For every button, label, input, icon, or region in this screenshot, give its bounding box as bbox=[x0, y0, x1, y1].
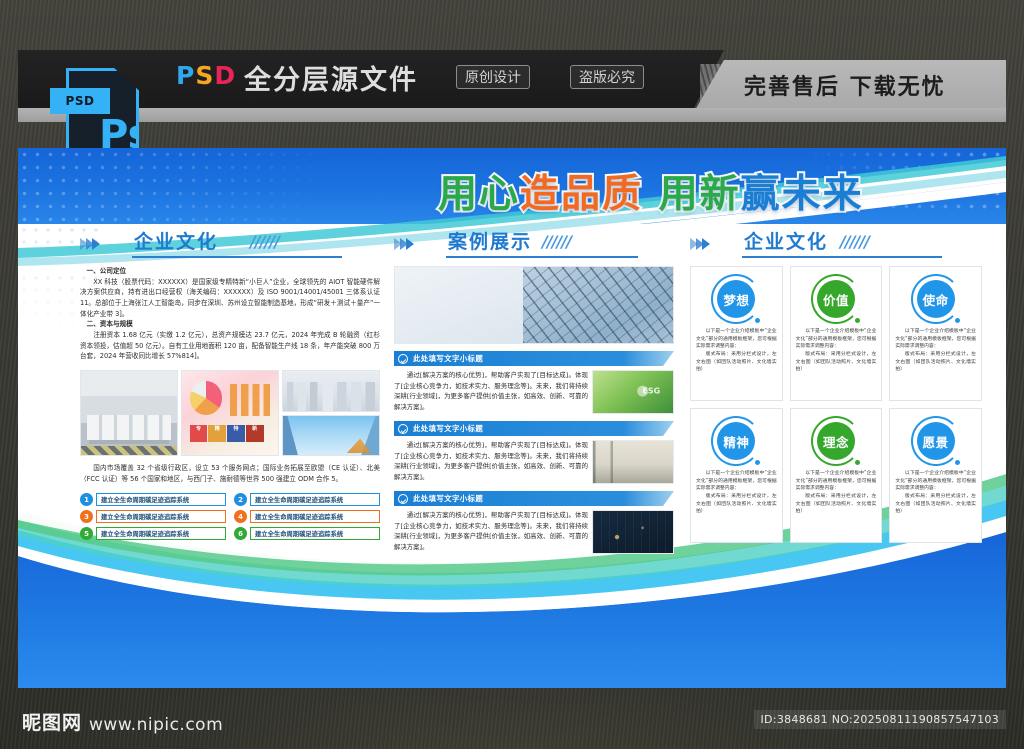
kpi-item[interactable]: 1建立全生命周期碳足迹追踪系统 bbox=[80, 493, 226, 506]
case-subtitle-bar[interactable]: 此处填写文字小标题 bbox=[394, 491, 674, 506]
kpi-label: 建立全生命周期碳足迹追踪系统 bbox=[250, 527, 380, 540]
section-heading-left: 企业文化 ////// bbox=[80, 228, 380, 258]
check-circle-icon bbox=[398, 494, 408, 504]
slash-decoration-right: ////// bbox=[840, 232, 869, 251]
file-type-label: PSD bbox=[50, 88, 110, 114]
case-subtitle-bar[interactable]: 此处填写文字小标题 bbox=[394, 421, 674, 436]
banner-tag-anti-piracy: 盗版必究 bbox=[570, 65, 644, 89]
section-heading-right: 企业文化 ////// bbox=[690, 228, 982, 258]
culture-card-paragraph-1: 以下是一个企业介绍模板中“企业文化”部分的通用模板框架，您可根据实际需求调整内容… bbox=[796, 328, 877, 351]
column-company-culture-right: 企业文化 ////// 梦想以下是一个企业介绍模板中“企业文化”部分的通用模板框… bbox=[690, 228, 982, 543]
site-logo-text: 昵图网 bbox=[22, 708, 82, 735]
case-paragraph: 通过[解决方案的核心优势]，帮助客户实现了[目标达成]。体现了[企业核心竞争力，… bbox=[394, 510, 592, 554]
culture-card-paragraph-1: 以下是一个企业介绍模板中“企业文化”部分的通用模板框架，您可根据实际需求调整内容… bbox=[696, 328, 777, 351]
case-block-body: 通过[解决方案的核心优势]，帮助客户实现了[目标达成]。体现了[企业核心竞争力，… bbox=[394, 510, 674, 554]
psd-letter-d: D bbox=[214, 61, 236, 90]
ring-end-dot-icon bbox=[855, 460, 860, 465]
culture-card[interactable]: 精神以下是一个企业介绍模板中“企业文化”部分的通用模板框架，您可根据实际需求调整… bbox=[690, 408, 783, 543]
culture-card-paragraph-2: 版式布局：采用分栏式设计，左文右图（如团队活动照片、文化墙实拍） bbox=[895, 351, 976, 374]
banner-service-slogan: 完善售后 下载无忧 bbox=[744, 69, 946, 101]
case-subtitle-label: 此处填写文字小标题 bbox=[413, 353, 483, 364]
kpi-number-badge: 5 bbox=[80, 527, 93, 540]
poster-canvas: 用心造品质 用新赢未来 企业文化 ////// 一、公司定位 XX 科技（股票代… bbox=[18, 148, 1006, 688]
ring-end-dot-icon bbox=[755, 318, 760, 323]
culture-card-text: 以下是一个企业介绍模板中“企业文化”部分的通用模板框架，您可根据实际需求调整内容… bbox=[696, 470, 777, 516]
culture-card-paragraph-2: 版式布局：采用分栏式设计，左文右图（如团队活动照片、文化墙实拍） bbox=[796, 351, 877, 374]
left-subheading-2: 二、资本与规模 bbox=[80, 319, 380, 330]
psd-letter-p: P bbox=[176, 61, 195, 90]
case-block: 此处填写文字小标题通过[解决方案的核心优势]，帮助客户实现了[目标达成]。体现了… bbox=[394, 421, 674, 484]
headline-part-4: 赢未来 bbox=[741, 172, 864, 217]
triple-arrow-icon bbox=[80, 235, 98, 254]
kpi-label: 建立全生命周期碳足迹追踪系统 bbox=[250, 510, 380, 523]
culture-card-paragraph-2: 版式布局：采用分栏式设计，左文右图（如团队活动照片、文化墙实拍） bbox=[895, 493, 976, 516]
photo-stack-right bbox=[282, 370, 380, 456]
left-paragraph-1: XX 科技（股票代码：XXXXXX）是国家级专精特新“小巨人”企业，全球领先的 … bbox=[80, 277, 380, 320]
section-title-right: 企业文化 bbox=[744, 227, 828, 254]
kpi-number-badge: 6 bbox=[234, 527, 247, 540]
psd-wordmark: PSD bbox=[176, 61, 236, 90]
site-watermark: 昵图网 www.nipic.com bbox=[22, 708, 223, 735]
culture-card-grid: 梦想以下是一个企业介绍模板中“企业文化”部分的通用模板框架，您可根据实际需求调整… bbox=[690, 266, 982, 543]
culture-card-label: 理念 bbox=[817, 422, 855, 460]
check-circle-icon bbox=[398, 424, 408, 434]
culture-card-label: 愿景 bbox=[917, 422, 955, 460]
culture-card-text: 以下是一个企业介绍模板中“企业文化”部分的通用模板框架，您可根据实际需求调整内容… bbox=[895, 470, 976, 516]
culture-card-text: 以下是一个企业介绍模板中“企业文化”部分的通用模板框架，您可根据实际需求调整内容… bbox=[796, 470, 877, 516]
case-paragraph: 通过[解决方案的核心优势]，帮助客户实现了[目标达成]。体现了[企业核心竞争力，… bbox=[394, 440, 592, 484]
culture-ring-icon: 精神 bbox=[711, 416, 761, 466]
culture-card-paragraph-2: 版式布局：采用分栏式设计，左文右图（如团队活动照片、文化墙实拍） bbox=[696, 493, 777, 516]
thumbnail-esg-globe bbox=[592, 370, 674, 414]
headline-part-2: 造品质 bbox=[520, 172, 643, 217]
culture-card-label: 使命 bbox=[917, 280, 955, 318]
culture-ring-icon: 梦想 bbox=[711, 274, 761, 324]
psd-letter-s: S bbox=[195, 61, 214, 90]
culture-ring-icon: 价值 bbox=[811, 274, 861, 324]
headline-part-3: 用新 bbox=[659, 172, 741, 217]
case-block-body: 通过[解决方案的核心优势]，帮助客户实现了[目标达成]。体现了[企业核心竞争力，… bbox=[394, 370, 674, 414]
ring-end-dot-icon bbox=[855, 318, 860, 323]
kpi-label: 建立全生命周期碳足迹追踪系统 bbox=[250, 493, 380, 506]
kpi-item[interactable]: 5建立全生命周期碳足迹追踪系统 bbox=[80, 527, 226, 540]
slash-decoration-left: ////// bbox=[250, 232, 279, 251]
kpi-label: 建立全生命周期碳足迹追踪系统 bbox=[96, 493, 226, 506]
culture-card-paragraph-1: 以下是一个企业介绍模板中“企业文化”部分的通用模板框架，您可根据实际需求调整内容… bbox=[895, 328, 976, 351]
kpi-label: 建立全生命周期碳足迹追踪系统 bbox=[96, 527, 226, 540]
culture-card-text: 以下是一个企业介绍模板中“企业文化”部分的通用模板框架，您可根据实际需求调整内容… bbox=[696, 328, 777, 374]
kpi-item[interactable]: 2建立全生命周期碳足迹追踪系统 bbox=[234, 493, 380, 506]
section-title-left: 企业文化 bbox=[134, 227, 218, 254]
culture-card-paragraph-2: 版式布局：采用分栏式设计，左文右图（如团队活动照片、文化墙实拍） bbox=[796, 493, 877, 516]
block-label-3: 新 bbox=[246, 425, 264, 442]
heading-underline-mid bbox=[446, 256, 638, 258]
case-block-body: 通过[解决方案的核心优势]，帮助客户实现了[目标达成]。体现了[企业核心竞争力，… bbox=[394, 440, 674, 484]
culture-card-paragraph-2: 版式布局：采用分栏式设计，左文右图（如团队活动照片、文化墙实拍） bbox=[696, 351, 777, 374]
photo-office-interior bbox=[80, 370, 178, 456]
hero-image-glass-facade bbox=[394, 266, 674, 344]
check-circle-icon bbox=[398, 354, 408, 364]
banner-title: 全分层源文件 bbox=[244, 58, 418, 97]
triple-arrow-icon bbox=[394, 235, 412, 254]
left-body-text-2: 国内市场覆盖 32 个省级行政区，设立 53 个服务网点；国际业务拓展至欧盟（C… bbox=[80, 463, 380, 484]
case-block: 此处填写文字小标题通过[解决方案的核心优势]，帮助客户实现了[目标达成]。体现了… bbox=[394, 351, 674, 414]
hero-image-left-pane bbox=[395, 267, 523, 343]
dot-pattern-left-icon bbox=[18, 148, 348, 224]
collage-word-blocks: 专 精 特 新 bbox=[190, 425, 265, 442]
culture-card-label: 精神 bbox=[717, 422, 755, 460]
culture-card-label: 梦想 bbox=[717, 280, 755, 318]
kpi-label: 建立全生命周期碳足迹追踪系统 bbox=[96, 510, 226, 523]
culture-card[interactable]: 理念以下是一个企业介绍模板中“企业文化”部分的通用模板框架，您可根据实际需求调整… bbox=[790, 408, 883, 543]
photo-towers-upward bbox=[282, 415, 380, 457]
culture-card-text: 以下是一个企业介绍模板中“企业文化”部分的通用模板框架，您可根据实际需求调整内容… bbox=[895, 328, 976, 374]
photo-charts-report: 专 精 特 新 bbox=[181, 370, 279, 456]
hero-image-right-pane bbox=[523, 267, 673, 343]
culture-card[interactable]: 价值以下是一个企业介绍模板中“企业文化”部分的通用模板框架，您可根据实际需求调整… bbox=[790, 266, 883, 401]
culture-ring-icon: 使命 bbox=[911, 274, 961, 324]
thumbnail-indoor-plants bbox=[592, 440, 674, 484]
case-subtitle-label: 此处填写文字小标题 bbox=[413, 423, 483, 434]
case-subtitle-label: 此处填写文字小标题 bbox=[413, 493, 483, 504]
culture-card[interactable]: 使命以下是一个企业介绍模板中“企业文化”部分的通用模板框架，您可根据实际需求调整… bbox=[889, 266, 982, 401]
poster-headline: 用心造品质 用新赢未来 bbox=[438, 166, 998, 224]
block-label-2: 特 bbox=[227, 425, 245, 442]
left-paragraph-3: 国内市场覆盖 32 个省级行政区，设立 53 个服务网点；国际业务拓展至欧盟（C… bbox=[80, 463, 380, 484]
column-company-culture-left: 企业文化 ////// 一、公司定位 XX 科技（股票代码：XXXXXX）是国家… bbox=[80, 228, 380, 540]
site-url: www.nipic.com bbox=[89, 715, 223, 735]
case-subtitle-bar[interactable]: 此处填写文字小标题 bbox=[394, 351, 674, 366]
psd-promo-banner: PSD 全分层源文件 原创设计 盗版必究 完善售后 下载无忧 Ps PSD bbox=[0, 50, 1024, 112]
culture-card-text: 以下是一个企业介绍模板中“企业文化”部分的通用模板框架，您可根据实际需求调整内容… bbox=[796, 328, 877, 374]
culture-card[interactable]: 愿景以下是一个企业介绍模板中“企业文化”部分的通用模板框架，您可根据实际需求调整… bbox=[889, 408, 982, 543]
left-paragraph-2: 注册资本 1.68 亿元（实缴 1.2 亿元），总资产规模达 23.7 亿元，2… bbox=[80, 330, 380, 362]
kpi-number-badge: 1 bbox=[80, 493, 93, 506]
banner-tag-original-design: 原创设计 bbox=[456, 65, 530, 89]
banner-bottom-strip bbox=[18, 108, 1006, 122]
photo-collage: 专 精 特 新 bbox=[80, 370, 380, 456]
kpi-list: 1建立全生命周期碳足迹追踪系统2建立全生命周期碳足迹追踪系统3建立全生命周期碳足… bbox=[80, 493, 380, 540]
asset-id-badge: ID:3848681 NO:20250811190857547103 bbox=[754, 710, 1006, 729]
photo-city-skyline bbox=[282, 370, 380, 412]
culture-card[interactable]: 梦想以下是一个企业介绍模板中“企业文化”部分的通用模板框架，您可根据实际需求调整… bbox=[690, 266, 783, 401]
column-case-showcase: 案例展示 ////// 此处填写文字小标题通过[解决方案的核心优势]，帮助客户实… bbox=[394, 228, 674, 554]
ring-end-dot-icon bbox=[755, 460, 760, 465]
culture-card-label: 价值 bbox=[817, 280, 855, 318]
culture-card-paragraph-1: 以下是一个企业介绍模板中“企业文化”部分的通用模板框架，您可根据实际需求调整内容… bbox=[895, 470, 976, 493]
kpi-item[interactable]: 3建立全生命周期碳足迹追踪系统 bbox=[80, 510, 226, 523]
block-label-0: 专 bbox=[190, 425, 208, 442]
culture-card-paragraph-1: 以下是一个企业介绍模板中“企业文化”部分的通用模板框架，您可根据实际需求调整内容… bbox=[796, 470, 877, 493]
case-blocks: 此处填写文字小标题通过[解决方案的核心优势]，帮助客户实现了[目标达成]。体现了… bbox=[394, 351, 674, 554]
left-subheading-1: 一、公司定位 bbox=[80, 266, 380, 277]
section-heading-mid: 案例展示 ////// bbox=[394, 228, 674, 258]
ring-end-dot-icon bbox=[955, 460, 960, 465]
left-body-text: 一、公司定位 XX 科技（股票代码：XXXXXX）是国家级专精特新“小巨人”企业… bbox=[80, 266, 380, 362]
thumbnail-night-building bbox=[592, 510, 674, 554]
kpi-item[interactable]: 4建立全生命周期碳足迹追踪系统 bbox=[234, 510, 380, 523]
culture-card-paragraph-1: 以下是一个企业介绍模板中“企业文化”部分的通用模板框架，您可根据实际需求调整内容… bbox=[696, 470, 777, 493]
triple-arrow-icon bbox=[690, 235, 708, 254]
headline-part-1: 用心 bbox=[438, 172, 520, 217]
ring-end-dot-icon bbox=[955, 318, 960, 323]
case-paragraph: 通过[解决方案的核心优势]，帮助客户实现了[目标达成]。体现了[企业核心竞争力，… bbox=[394, 370, 592, 414]
kpi-number-badge: 4 bbox=[234, 510, 247, 523]
kpi-number-badge: 2 bbox=[234, 493, 247, 506]
case-block: 此处填写文字小标题通过[解决方案的核心优势]，帮助客户实现了[目标达成]。体现了… bbox=[394, 491, 674, 554]
culture-ring-icon: 理念 bbox=[811, 416, 861, 466]
heading-underline-left bbox=[132, 256, 342, 258]
kpi-number-badge: 3 bbox=[80, 510, 93, 523]
culture-ring-icon: 愿景 bbox=[911, 416, 961, 466]
block-label-1: 精 bbox=[208, 425, 226, 442]
slash-decoration-mid: ////// bbox=[542, 232, 571, 251]
kpi-item[interactable]: 6建立全生命周期碳足迹追踪系统 bbox=[234, 527, 380, 540]
section-title-mid: 案例展示 bbox=[448, 227, 532, 254]
heading-underline-right bbox=[742, 256, 942, 258]
